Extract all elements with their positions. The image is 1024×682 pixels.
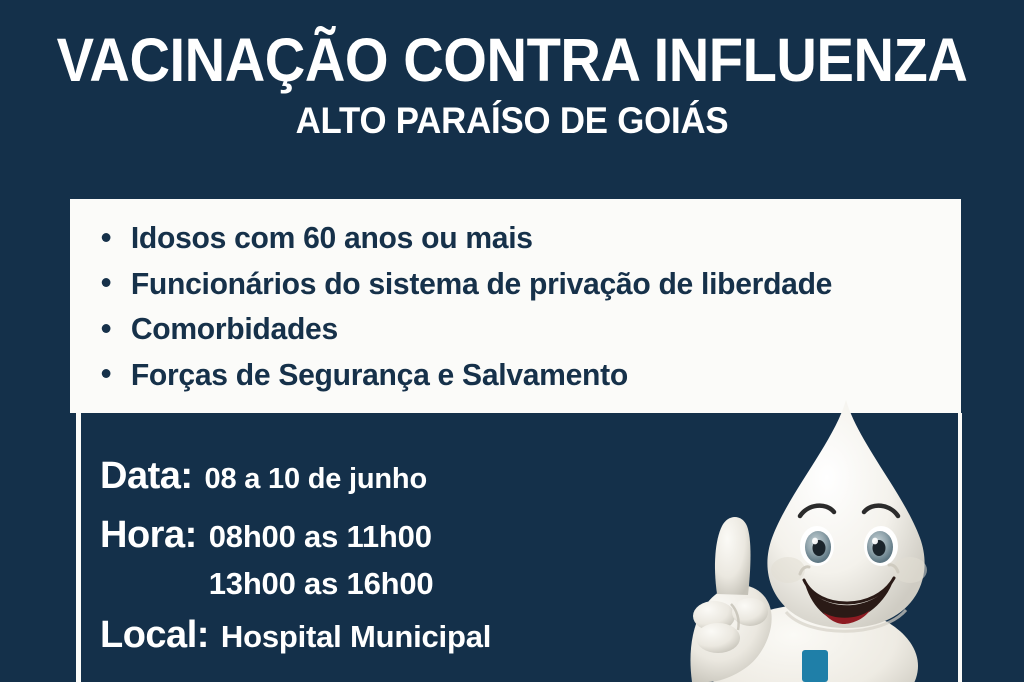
detail-row-place: Local: Hospital Municipal	[100, 614, 660, 657]
ze-gotinha-mascot-icon	[618, 398, 958, 682]
audience-list: Idosos com 60 anos ou mais Funcionários …	[94, 215, 961, 397]
list-item: Forças de Segurança e Salvamento	[94, 352, 935, 398]
poster-header: VACINAÇÃO CONTRA INFLUENZA ALTO PARAÍSO …	[0, 0, 1024, 142]
page-title: VACINAÇÃO CONTRA INFLUENZA	[41, 0, 983, 92]
date-value: 08 a 10 de junho	[205, 463, 427, 496]
date-label: Data:	[100, 455, 193, 498]
place-label: Local:	[100, 614, 209, 657]
poster-subtitle: ALTO PARAÍSO DE GOIÁS	[31, 92, 994, 142]
eye-right-icon	[864, 526, 898, 566]
list-item: Funcionários do sistema de privação de l…	[94, 261, 935, 307]
list-item: Idosos com 60 anos ou mais	[94, 215, 935, 261]
time-value-afternoon: 13h00 as 16h00	[209, 566, 434, 602]
detail-row-time-second: Hora: 13h00 as 16h00	[100, 561, 660, 604]
time-label: Hora:	[100, 514, 197, 557]
eye-left-icon	[800, 526, 834, 566]
detail-row-time: Hora: 08h00 as 11h00	[100, 514, 660, 557]
audience-panel: Idosos com 60 anos ou mais Funcionários …	[70, 199, 961, 413]
chest-badge-icon	[802, 650, 828, 682]
place-value: Hospital Municipal	[221, 619, 491, 655]
time-value-morning: 08h00 as 11h00	[209, 519, 432, 555]
detail-row-date: Data: 08 a 10 de junho	[100, 455, 660, 498]
list-item: Comorbidades	[94, 306, 935, 352]
vaccination-poster: VACINAÇÃO CONTRA INFLUENZA ALTO PARAÍSO …	[0, 0, 1024, 682]
details-panel: Data: 08 a 10 de junho Hora: 08h00 as 11…	[100, 455, 660, 657]
